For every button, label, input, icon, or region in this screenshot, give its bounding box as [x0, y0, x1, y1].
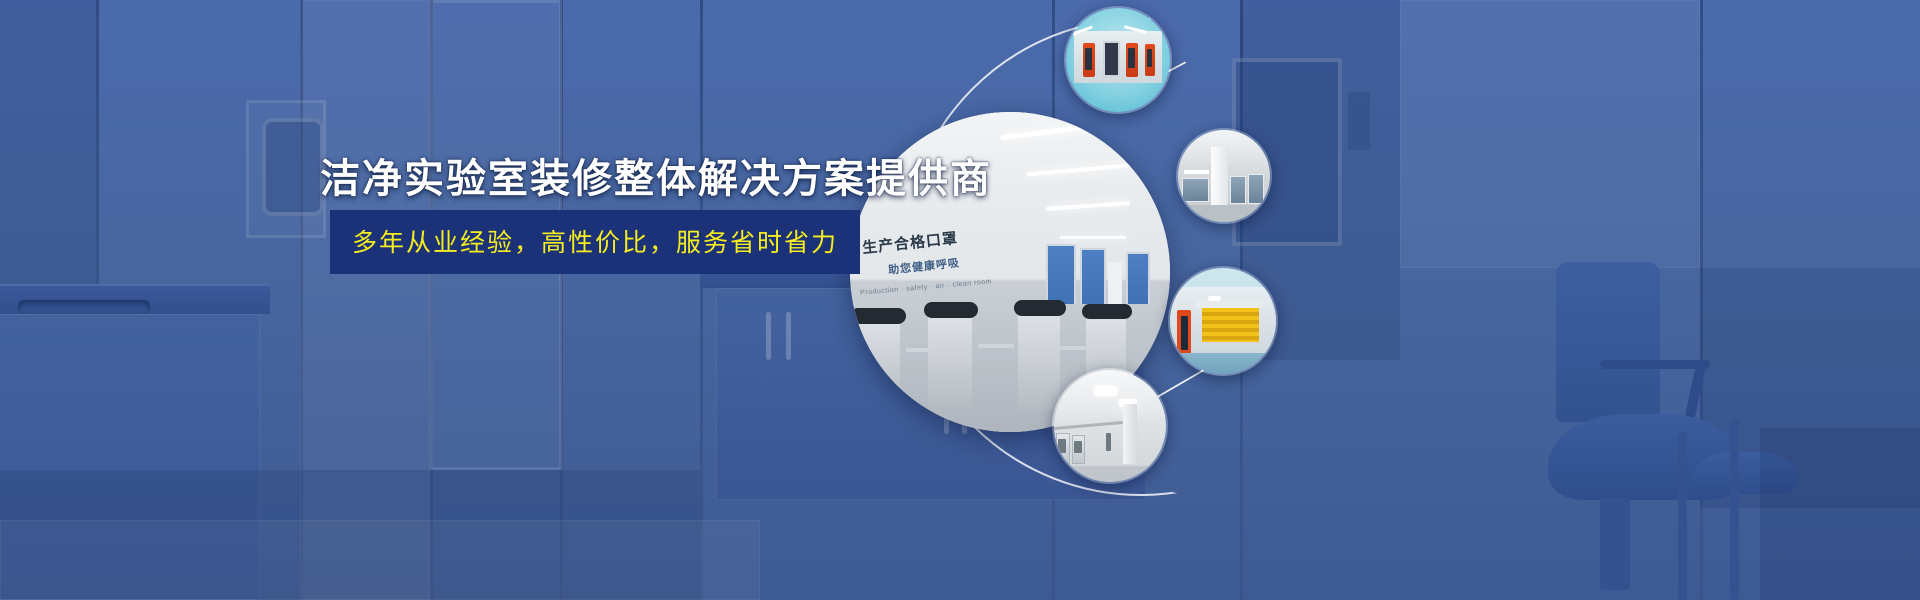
- bubble-yellow-roller-door: [1168, 266, 1278, 376]
- banner-subtitle-bar: 多年从业经验，高性价比，服务省时省力: [330, 210, 860, 274]
- bubble-corridor-orange-doors: [1064, 6, 1172, 114]
- image-cluster: 生产合格口罩 助您健康呼吸 Production · safety · air …: [820, 0, 1500, 600]
- banner-subtitle: 多年从业经验，高性价比，服务省时省力: [352, 223, 838, 259]
- bubble-laboratory-interior: [1052, 368, 1168, 484]
- hero-banner: 洁净实验室装修整体解决方案提供商 多年从业经验，高性价比，服务省时省力 生产合格…: [0, 0, 1920, 600]
- banner-headline: 洁净实验室装修整体解决方案提供商: [320, 146, 992, 204]
- bubble-cleanroom-corner-windows: [1176, 128, 1272, 224]
